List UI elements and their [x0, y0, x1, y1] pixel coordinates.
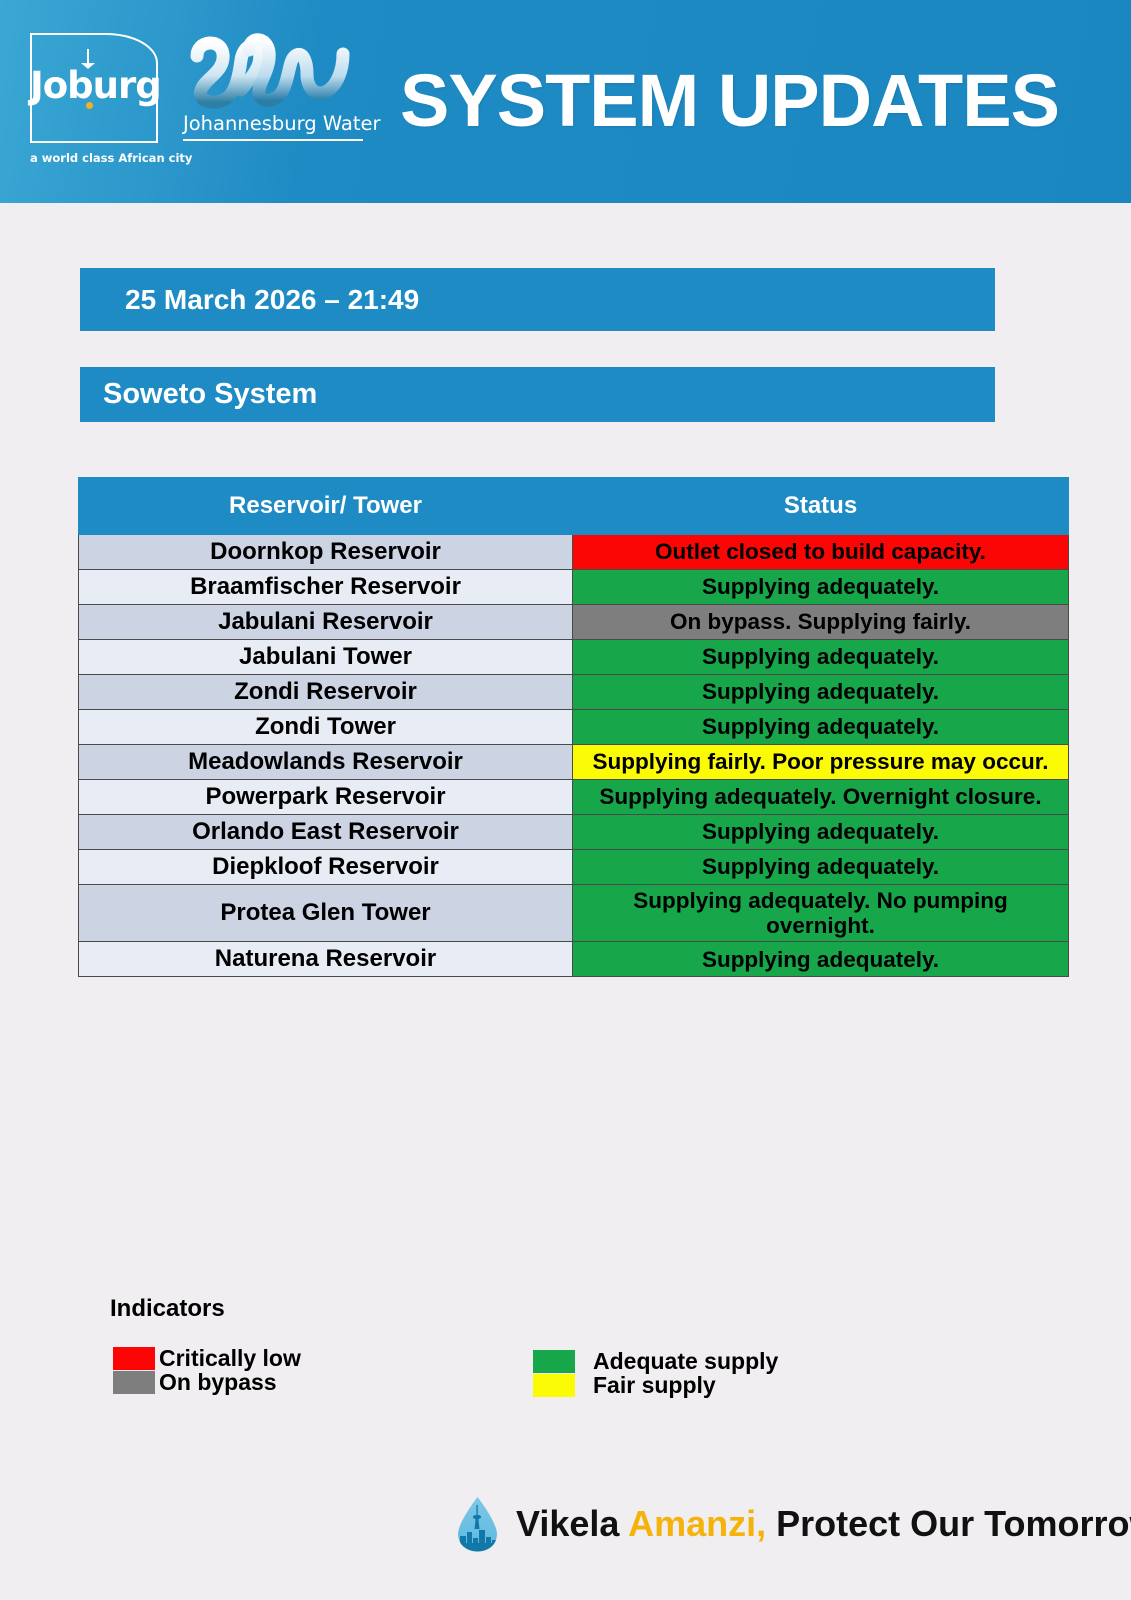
legend-swatch-on-bypass-icon: [113, 1371, 155, 1394]
status-cell: Supplying adequately.: [573, 815, 1069, 850]
table-body: Doornkop ReservoirOutlet closed to build…: [79, 535, 1069, 977]
legend-item: On bypass: [113, 1371, 301, 1394]
water-wave-icon: [183, 32, 363, 110]
table-row: Braamfischer ReservoirSupplying adequate…: [79, 570, 1069, 605]
status-cell: Supplying fairly. Poor pressure may occu…: [573, 745, 1069, 780]
page-title: SYSTEM UPDATES: [400, 58, 1059, 143]
reservoir-name-cell: Powerpark Reservoir: [79, 780, 573, 815]
legend-column-left: Critically low On bypass: [113, 1347, 301, 1394]
tagline-accent: Amanzi,: [628, 1503, 766, 1544]
table-row: Doornkop ReservoirOutlet closed to build…: [79, 535, 1069, 570]
page-footer: Vikela Amanzi, Protect Our Tomorrow: [455, 1493, 1131, 1555]
system-banner-text: Soweto System: [103, 378, 317, 411]
status-cell: Supplying adequately. No pumping overnig…: [573, 885, 1069, 942]
status-cell: Supplying adequately.: [573, 570, 1069, 605]
date-banner-text: 25 March 2026 – 21:49: [125, 284, 419, 316]
reservoir-name-cell: Meadowlands Reservoir: [79, 745, 573, 780]
joburg-dot-icon: [86, 102, 93, 109]
system-banner: Soweto System: [80, 367, 995, 422]
legend-swatch-fair-supply-icon: [533, 1374, 575, 1397]
table-row: Jabulani TowerSupplying adequately.: [79, 640, 1069, 675]
reservoir-status-table: Reservoir/ Tower Status Doornkop Reservo…: [78, 477, 1069, 977]
reservoir-name-cell: Zondi Reservoir: [79, 675, 573, 710]
date-banner: 25 March 2026 – 21:49: [80, 268, 995, 331]
legend-label: On bypass: [159, 1371, 277, 1394]
joburg-logo-tagline: a world class African city: [30, 151, 180, 165]
system-updates-page: Joburg a world class African city: [0, 0, 1131, 1600]
reservoir-name-cell: Protea Glen Tower: [79, 885, 573, 942]
water-drop-city-icon: [455, 1495, 500, 1553]
status-cell: Supplying adequately.: [573, 710, 1069, 745]
status-cell: Supplying adequately.: [573, 942, 1069, 977]
reservoir-name-cell: Jabulani Reservoir: [79, 605, 573, 640]
reservoir-name-cell: Doornkop Reservoir: [79, 535, 573, 570]
legend-item: Adequate supply: [533, 1350, 778, 1373]
joburg-logo-wordmark: Joburg: [30, 66, 158, 106]
johannesburg-water-name: Johannesburg Water: [183, 112, 363, 141]
table-row: Zondi ReservoirSupplying adequately.: [79, 675, 1069, 710]
status-cell: Supplying adequately. Overnight closure.: [573, 780, 1069, 815]
table-header-row: Reservoir/ Tower Status: [79, 478, 1069, 535]
reservoir-name-cell: Zondi Tower: [79, 710, 573, 745]
legend-swatch-adequate-supply-icon: [533, 1350, 575, 1373]
tagline-part-2: Protect Our Tomorrow: [766, 1503, 1131, 1544]
status-cell: On bypass. Supplying fairly.: [573, 605, 1069, 640]
johannesburg-water-logo: Johannesburg Water: [183, 32, 363, 152]
legend-label: Fair supply: [593, 1374, 716, 1397]
column-header-reservoir: Reservoir/ Tower: [79, 478, 573, 535]
reservoir-name-cell: Orlando East Reservoir: [79, 815, 573, 850]
joburg-logo: Joburg a world class African city: [30, 33, 166, 149]
table-row: Meadowlands ReservoirSupplying fairly. P…: [79, 745, 1069, 780]
legend-swatch-critically-low-icon: [113, 1347, 155, 1370]
table-row: Orlando East ReservoirSupplying adequate…: [79, 815, 1069, 850]
reservoir-name-cell: Naturena Reservoir: [79, 942, 573, 977]
page-header: Joburg a world class African city: [0, 0, 1131, 203]
legend-item: Fair supply: [533, 1374, 778, 1397]
table-row: Protea Glen TowerSupplying adequately. N…: [79, 885, 1069, 942]
reservoir-name-cell: Jabulani Tower: [79, 640, 573, 675]
status-cell: Outlet closed to build capacity.: [573, 535, 1069, 570]
indicators-title: Indicators: [110, 1295, 225, 1323]
table-row: Zondi TowerSupplying adequately.: [79, 710, 1069, 745]
legend-label: Adequate supply: [593, 1350, 778, 1373]
status-cell: Supplying adequately.: [573, 675, 1069, 710]
legend-item: Critically low: [113, 1347, 301, 1370]
tagline-part-1: Vikela: [516, 1503, 628, 1544]
table-row: Diepkloof ReservoirSupplying adequately.: [79, 850, 1069, 885]
reservoir-name-cell: Diepkloof Reservoir: [79, 850, 573, 885]
legend-column-right: Adequate supply Fair supply: [533, 1350, 778, 1397]
reservoir-name-cell: Braamfischer Reservoir: [79, 570, 573, 605]
table-row: Jabulani ReservoirOn bypass. Supplying f…: [79, 605, 1069, 640]
column-header-status: Status: [573, 478, 1069, 535]
footer-tagline: Vikela Amanzi, Protect Our Tomorrow: [516, 1503, 1131, 1545]
status-cell: Supplying adequately.: [573, 850, 1069, 885]
status-cell: Supplying adequately.: [573, 640, 1069, 675]
legend-label: Critically low: [159, 1347, 301, 1370]
table-row: Powerpark ReservoirSupplying adequately.…: [79, 780, 1069, 815]
table-row: Naturena ReservoirSupplying adequately.: [79, 942, 1069, 977]
